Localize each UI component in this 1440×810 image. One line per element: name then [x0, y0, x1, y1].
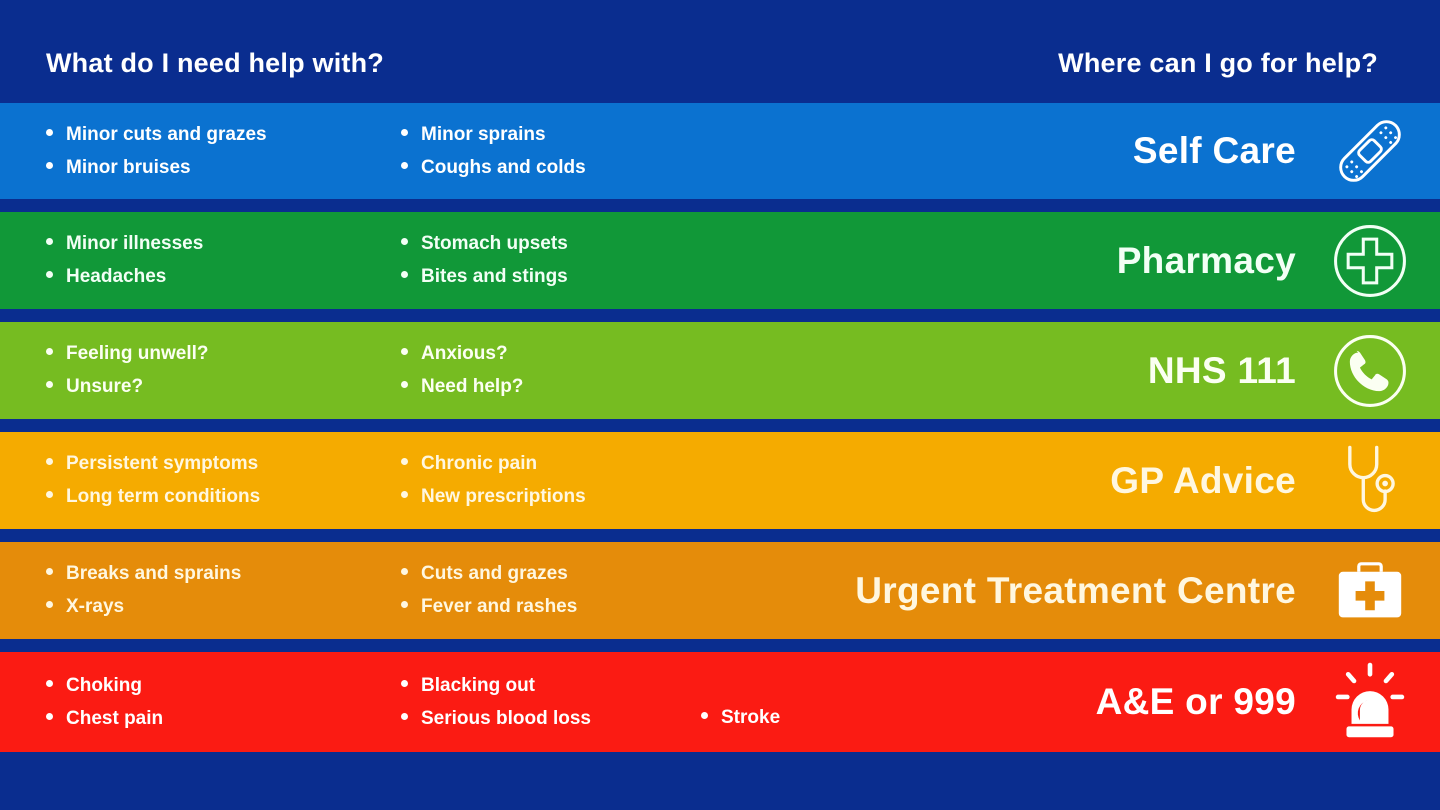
- list-item-label: Persistent symptoms: [66, 454, 258, 474]
- bullet-dot-icon: [46, 458, 53, 465]
- bullet-dot-icon: [46, 568, 53, 575]
- list-item-label: Chest pain: [66, 709, 163, 729]
- list-item: Feeling unwell?: [46, 344, 401, 364]
- list-item-label: New prescriptions: [421, 487, 586, 507]
- service-name-label: Urgent Treatment Centre: [855, 570, 1296, 612]
- bullet-dot-icon: [401, 601, 408, 608]
- bullet-dot-icon: [401, 381, 408, 388]
- bullet-dot-icon: [401, 458, 408, 465]
- list-item: Unsure?: [46, 377, 401, 397]
- bullet-dot-icon: [46, 129, 53, 136]
- list-item-label: Coughs and colds: [421, 158, 586, 178]
- header-left-title: What do I need help with?: [46, 48, 384, 79]
- list-item: Choking: [46, 676, 401, 696]
- symptom-column: Anxious? Need help?: [401, 344, 701, 397]
- symptom-column: Minor cuts and grazes Minor bruises: [46, 125, 401, 178]
- bullet-dot-icon: [46, 680, 53, 687]
- list-item-label: X-rays: [66, 597, 124, 617]
- symptom-column: Minor sprains Coughs and colds: [401, 125, 701, 178]
- header-right-title: Where can I go for help?: [1058, 48, 1378, 79]
- board-header: What do I need help with? Where can I go…: [0, 0, 1440, 103]
- list-item-label: Headaches: [66, 267, 166, 287]
- list-item-label: Feeling unwell?: [66, 344, 209, 364]
- symptom-columns: Minor illnesses Headaches Stomach upsets: [0, 234, 701, 287]
- symptom-column: Blacking out Serious blood loss: [401, 676, 701, 729]
- list-item: Need help?: [401, 377, 701, 397]
- list-item: Bites and stings: [401, 267, 701, 287]
- list-item-label: Minor bruises: [66, 158, 191, 178]
- symptom-column: Feeling unwell? Unsure?: [46, 344, 401, 397]
- list-item: Blacking out: [401, 676, 701, 696]
- list-item: Persistent symptoms: [46, 454, 401, 474]
- service-name-label: GP Advice: [1110, 460, 1296, 502]
- list-item-label: Serious blood loss: [421, 709, 591, 729]
- symptom-column: Breaks and sprains X-rays: [46, 564, 401, 617]
- list-item-label: Blacking out: [421, 676, 535, 696]
- nhs-help-guide-board: What do I need help with? Where can I go…: [0, 0, 1440, 810]
- bullet-dot-icon: [46, 713, 53, 720]
- bullet-dot-icon: [46, 238, 53, 245]
- list-item: Breaks and sprains: [46, 564, 401, 584]
- service-destination: Self Care: [701, 108, 1440, 194]
- list-item: Long term conditions: [46, 487, 401, 507]
- list-item-label: Anxious?: [421, 344, 508, 364]
- symptom-column: Chronic pain New prescriptions: [401, 454, 701, 507]
- service-name-label: NHS 111: [1148, 350, 1296, 392]
- symptom-columns: Minor cuts and grazes Minor bruises Mino…: [0, 125, 701, 178]
- service-name-label: A&E or 999: [1096, 681, 1296, 723]
- list-item: Coughs and colds: [401, 158, 701, 178]
- bullet-dot-icon: [46, 162, 53, 169]
- bullet-dot-icon: [401, 129, 408, 136]
- bullet-dot-icon: [46, 348, 53, 355]
- service-rows: Minor cuts and grazes Minor bruises Mino…: [0, 103, 1440, 810]
- bullet-dot-icon: [46, 491, 53, 498]
- bullet-dot-icon: [46, 271, 53, 278]
- list-item: New prescriptions: [401, 487, 701, 507]
- list-item-label: Minor cuts and grazes: [66, 125, 267, 145]
- symptom-column: Stomach upsets Bites and stings: [401, 234, 701, 287]
- list-item: Headaches: [46, 267, 401, 287]
- service-row-pharmacy[interactable]: Minor illnesses Headaches Stomach upsets: [0, 212, 1440, 309]
- pharmacy-cross-circle-icon: [1322, 218, 1418, 304]
- phone-circle-icon: [1322, 328, 1418, 414]
- list-item-label: Choking: [66, 676, 142, 696]
- list-item: Stroke: [701, 708, 921, 728]
- service-row-urgent-treatment-centre[interactable]: Breaks and sprains X-rays Cuts and graze…: [0, 542, 1440, 639]
- list-item: Minor bruises: [46, 158, 401, 178]
- service-name-label: Self Care: [1133, 130, 1296, 172]
- service-destination: A&E or 999: [921, 659, 1440, 745]
- bullet-dot-icon: [401, 680, 408, 687]
- list-item: Anxious?: [401, 344, 701, 364]
- service-name-label: Pharmacy: [1117, 240, 1296, 282]
- medical-bag-icon: [1322, 548, 1418, 634]
- bullet-dot-icon: [401, 491, 408, 498]
- symptom-column: Choking Chest pain: [46, 676, 401, 729]
- bullet-dot-icon: [401, 713, 408, 720]
- symptom-columns: Breaks and sprains X-rays Cuts and graze…: [0, 564, 701, 617]
- service-destination: Urgent Treatment Centre: [701, 548, 1440, 634]
- list-item-label: Bites and stings: [421, 267, 568, 287]
- list-item-label: Fever and rashes: [421, 597, 577, 617]
- list-item-label: Need help?: [421, 377, 523, 397]
- symptom-column: Minor illnesses Headaches: [46, 234, 401, 287]
- list-item-label: Cuts and grazes: [421, 564, 568, 584]
- list-item-label: Minor illnesses: [66, 234, 203, 254]
- symptom-column: Stroke: [701, 692, 921, 712]
- list-item: Chronic pain: [401, 454, 701, 474]
- list-item: Fever and rashes: [401, 597, 701, 617]
- service-row-nhs-111[interactable]: Feeling unwell? Unsure? Anxious? Need he…: [0, 322, 1440, 419]
- bullet-dot-icon: [401, 271, 408, 278]
- service-row-self-care[interactable]: Minor cuts and grazes Minor bruises Mino…: [0, 103, 1440, 199]
- service-destination: NHS 111: [701, 328, 1440, 414]
- list-item: Minor cuts and grazes: [46, 125, 401, 145]
- symptom-columns: Feeling unwell? Unsure? Anxious? Need he…: [0, 344, 701, 397]
- bullet-dot-icon: [401, 348, 408, 355]
- list-item: Minor illnesses: [46, 234, 401, 254]
- emergency-siren-icon: [1322, 659, 1418, 745]
- bullet-dot-icon: [401, 568, 408, 575]
- list-item-label: Stomach upsets: [421, 234, 568, 254]
- list-item: Chest pain: [46, 709, 401, 729]
- bullet-dot-icon: [401, 238, 408, 245]
- list-item: X-rays: [46, 597, 401, 617]
- list-item-label: Chronic pain: [421, 454, 537, 474]
- service-row-ae-or-999[interactable]: Choking Chest pain Blacking out Serious …: [0, 652, 1440, 752]
- list-item-label: Breaks and sprains: [66, 564, 241, 584]
- service-destination: Pharmacy: [701, 218, 1440, 304]
- list-item-label: Unsure?: [66, 377, 143, 397]
- service-row-gp-advice[interactable]: Persistent symptoms Long term conditions…: [0, 432, 1440, 529]
- bullet-dot-icon: [701, 712, 708, 719]
- bullet-dot-icon: [46, 381, 53, 388]
- symptom-column: Persistent symptoms Long term conditions: [46, 454, 401, 507]
- symptom-column: Cuts and grazes Fever and rashes: [401, 564, 701, 617]
- list-item: Serious blood loss: [401, 709, 701, 729]
- symptom-columns: Persistent symptoms Long term conditions…: [0, 454, 701, 507]
- plaster-bandage-icon: [1322, 108, 1418, 194]
- list-item: Stomach upsets: [401, 234, 701, 254]
- list-item-label: Stroke: [721, 708, 780, 728]
- list-item: Minor sprains: [401, 125, 701, 145]
- list-item: Cuts and grazes: [401, 564, 701, 584]
- bullet-dot-icon: [401, 162, 408, 169]
- list-item-label: Minor sprains: [421, 125, 546, 145]
- service-destination: GP Advice: [701, 438, 1440, 524]
- stethoscope-icon: [1322, 438, 1418, 524]
- symptom-columns: Choking Chest pain Blacking out Serious …: [0, 676, 921, 729]
- list-item-label: Long term conditions: [66, 487, 260, 507]
- bullet-dot-icon: [46, 601, 53, 608]
